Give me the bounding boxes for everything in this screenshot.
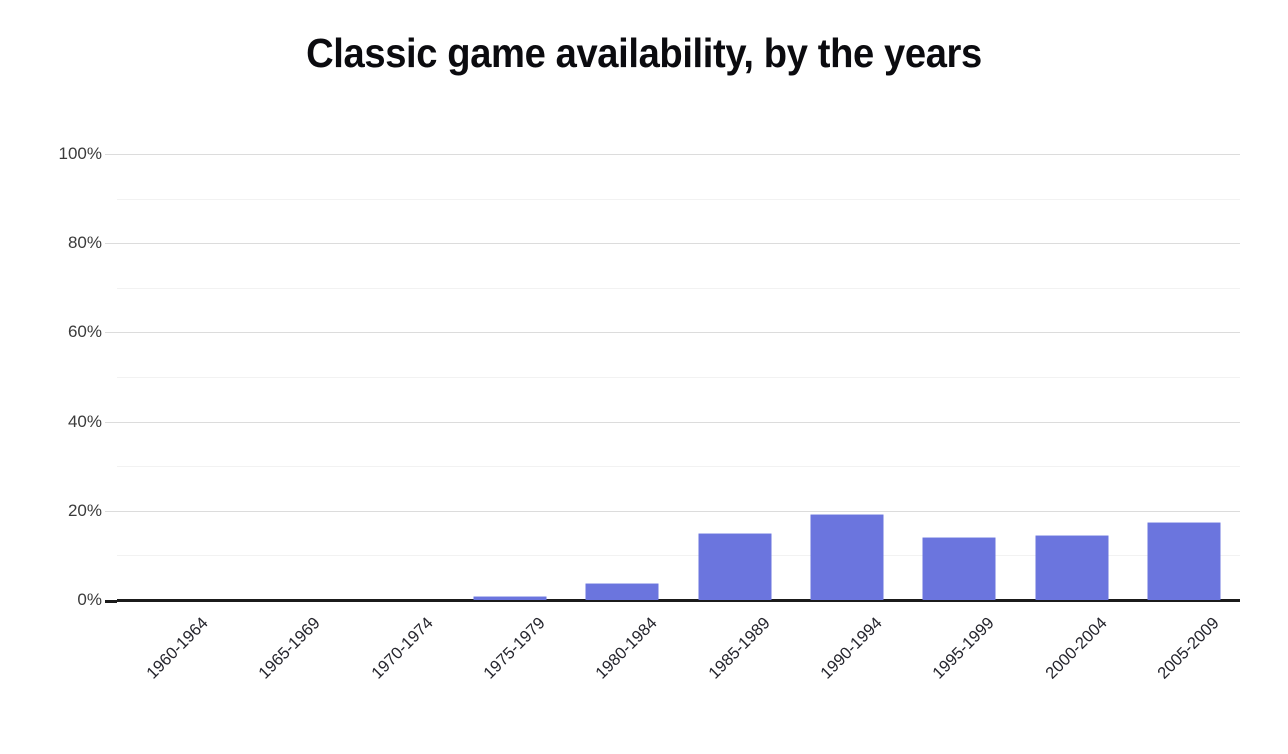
y-axis-tick-mark bbox=[105, 154, 117, 155]
bar-slot bbox=[791, 154, 903, 600]
y-axis-tick-label: 0% bbox=[0, 590, 102, 610]
chart-page: Classic game availability, by the years … bbox=[0, 0, 1288, 754]
x-axis-tick-label: 2000-2004 bbox=[1042, 614, 1111, 683]
x-axis-tick-labels: 1960-19641965-19691970-19741975-19791980… bbox=[117, 604, 1240, 744]
bar-slot bbox=[1128, 154, 1240, 600]
x-axis-tick-label: 1990-1994 bbox=[817, 614, 886, 683]
y-axis-tick-label: 40% bbox=[0, 412, 102, 432]
bar[interactable] bbox=[1035, 535, 1108, 600]
bar-slot bbox=[1015, 154, 1127, 600]
bar-slot bbox=[679, 154, 791, 600]
bar-slot bbox=[229, 154, 341, 600]
y-axis-tick-mark bbox=[105, 332, 117, 333]
bar-slot bbox=[117, 154, 229, 600]
x-axis-tick-label: 1965-1969 bbox=[256, 614, 325, 683]
x-axis-tick-label: 1980-1984 bbox=[593, 614, 662, 683]
y-axis-tick-mark bbox=[105, 511, 117, 512]
y-axis-tick-mark bbox=[105, 243, 117, 244]
x-axis-tick-label: 1970-1974 bbox=[368, 614, 437, 683]
chart-title: Classic game availability, by the years bbox=[45, 30, 1243, 77]
x-axis-tick-label: 2005-2009 bbox=[1154, 614, 1223, 683]
bar[interactable] bbox=[474, 596, 547, 600]
bar[interactable] bbox=[923, 537, 996, 600]
x-axis-tick-label: 1960-1964 bbox=[143, 614, 212, 683]
y-axis-tick-mark bbox=[105, 422, 117, 423]
y-axis-tick-label: 80% bbox=[0, 233, 102, 253]
bar-series bbox=[117, 154, 1240, 600]
x-axis-tick-label: 1985-1989 bbox=[705, 614, 774, 683]
bar-slot bbox=[342, 154, 454, 600]
bar[interactable] bbox=[810, 514, 883, 600]
bar[interactable] bbox=[586, 583, 659, 600]
y-axis-tick-label: 20% bbox=[0, 501, 102, 521]
bar-slot bbox=[903, 154, 1015, 600]
bar[interactable] bbox=[1147, 522, 1220, 600]
bar[interactable] bbox=[698, 533, 771, 600]
bar-slot bbox=[566, 154, 678, 600]
y-axis-tick-mark bbox=[105, 600, 117, 603]
bar-slot bbox=[454, 154, 566, 600]
y-axis-tick-label: 100% bbox=[0, 144, 102, 164]
y-axis-tick-label: 60% bbox=[0, 322, 102, 342]
x-axis-tick-label: 1995-1999 bbox=[929, 614, 998, 683]
x-axis-tick-label: 1975-1979 bbox=[480, 614, 549, 683]
